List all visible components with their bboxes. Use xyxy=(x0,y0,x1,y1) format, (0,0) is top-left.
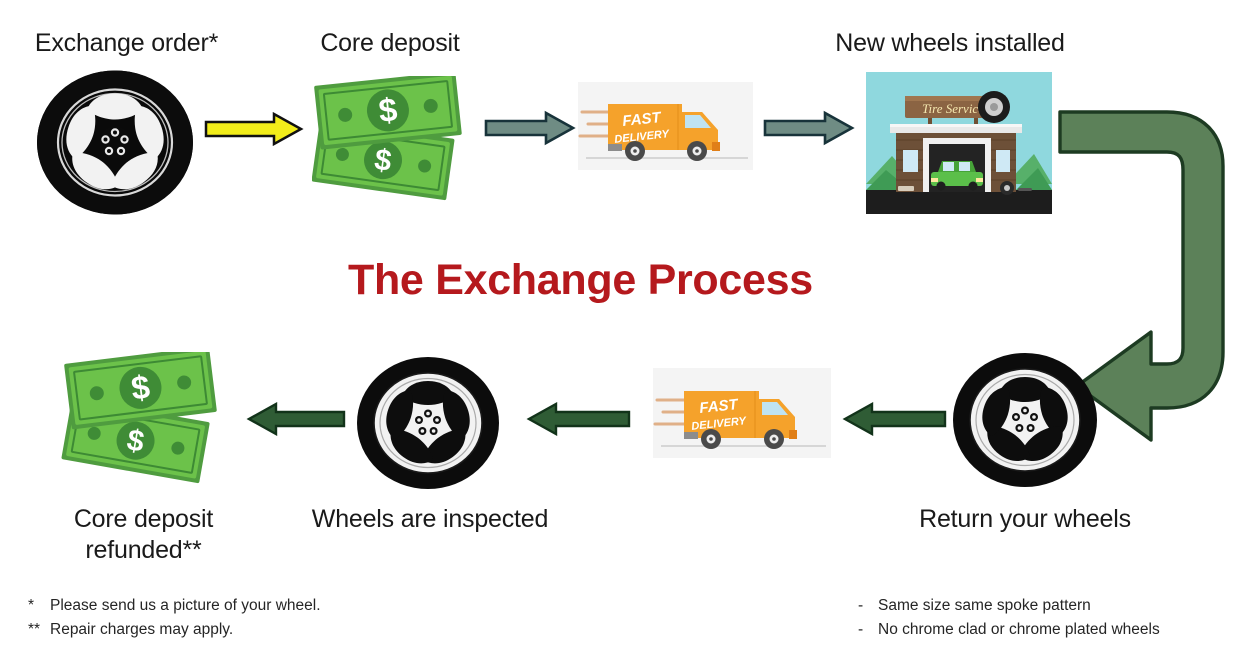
requirement-text: Same size same spoke pattern xyxy=(878,594,1091,618)
svg-text:$: $ xyxy=(377,91,399,130)
footnote-marker: ** xyxy=(28,618,50,642)
arrow-deposit-to-shipping xyxy=(484,110,576,146)
dollar-bills-icon: $ $ xyxy=(312,76,477,206)
arrow-return-to-shipping xyxy=(842,402,947,436)
exchange-process-diagram: Exchange order* Core deposit New wheels … xyxy=(0,0,1250,666)
wheel-exchange-order xyxy=(36,70,194,215)
page-title: The Exchange Process xyxy=(348,256,813,305)
footnote-item: * Please send us a picture of your wheel… xyxy=(28,594,448,618)
label-core-deposit-refunded: Core deposit refunded** xyxy=(36,504,251,565)
footnotes-right: - Same size same spoke pattern - No chro… xyxy=(858,594,1248,642)
delivery-truck-icon: FAST DELIVERY xyxy=(578,82,753,170)
dollar-bills-icon: $ $ xyxy=(58,352,238,484)
alloy-wheel-icon xyxy=(356,356,500,490)
bullet-marker: - xyxy=(858,618,878,642)
requirement-item: - No chrome clad or chrome plated wheels xyxy=(858,618,1248,642)
label-wheels-inspected: Wheels are inspected xyxy=(290,504,570,535)
arrow-shipping-to-inspection xyxy=(526,402,631,436)
requirement-item: - Same size same spoke pattern xyxy=(858,594,1248,618)
alloy-wheel-icon xyxy=(952,352,1098,488)
alloy-wheel-icon xyxy=(36,70,194,215)
truck-outbound: FAST DELIVERY xyxy=(578,82,753,170)
wheel-inspected xyxy=(356,356,500,490)
label-core-deposit: Core deposit xyxy=(300,28,480,59)
footnote-text: Repair charges may apply. xyxy=(50,618,233,642)
svg-text:Tire Service: Tire Service xyxy=(922,101,984,116)
tire-service-shop-icon: Tire Service xyxy=(866,72,1052,214)
bullet-marker: - xyxy=(858,594,878,618)
delivery-truck-icon: FAST DELIVERY xyxy=(653,368,831,458)
footnote-marker: * xyxy=(28,594,50,618)
footnote-item: ** Repair charges may apply. xyxy=(28,618,448,642)
footnote-text: Please send us a picture of your wheel. xyxy=(50,594,321,618)
shop-new-wheels-installed: Tire Service xyxy=(866,72,1052,214)
wheel-return xyxy=(952,352,1098,488)
requirement-text: No chrome clad or chrome plated wheels xyxy=(878,618,1160,642)
arrow-inspected-to-refund xyxy=(246,402,346,436)
footnotes-left: * Please send us a picture of your wheel… xyxy=(28,594,448,642)
money-refund: $ $ xyxy=(58,352,238,484)
arrow-order-to-deposit xyxy=(204,112,304,146)
truck-return: FAST DELIVERY xyxy=(653,368,831,458)
arrow-shipping-to-install xyxy=(763,110,855,146)
label-new-wheels-installed: New wheels installed xyxy=(805,28,1095,59)
money-core-deposit: $ $ xyxy=(312,76,477,206)
label-exchange-order: Exchange order* xyxy=(14,28,239,59)
label-return-your-wheels: Return your wheels xyxy=(900,504,1150,535)
